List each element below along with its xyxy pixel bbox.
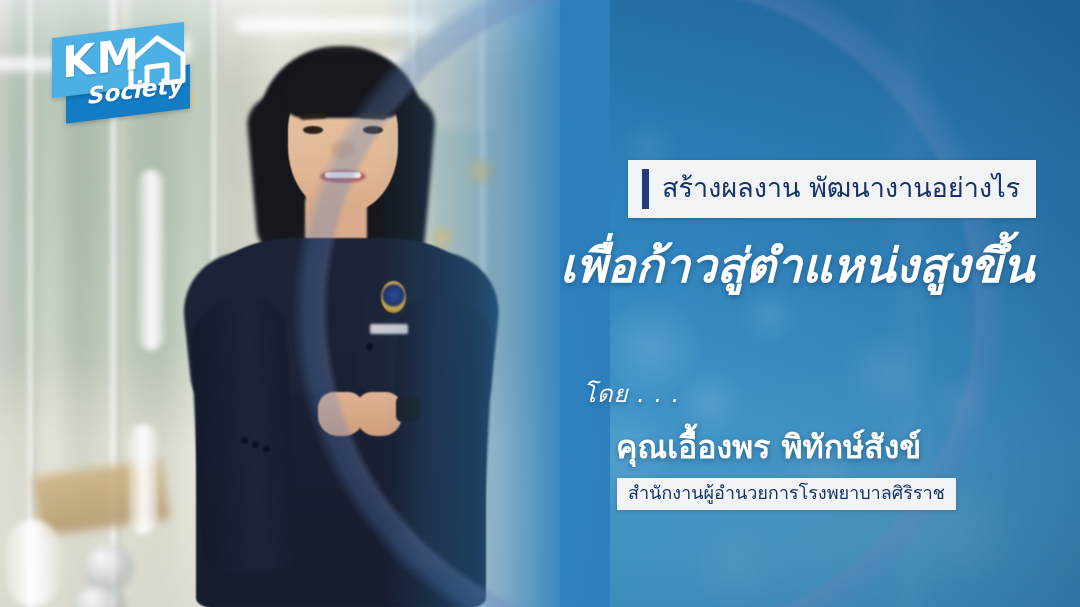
title-text: สร้างผลงาน พัฒนางานอย่างไร [662, 173, 1020, 205]
arm-left [189, 298, 299, 573]
title-banner: สร้างผลงาน พัฒนางานอย่างไร [628, 160, 1036, 218]
hair-fringe [282, 60, 404, 118]
wristwatch [396, 396, 420, 422]
blazer-button [366, 343, 373, 350]
eye-left [303, 126, 323, 134]
nose [331, 140, 355, 158]
cuff-button [252, 441, 259, 448]
km-society-logo[interactable]: KM Society [40, 24, 200, 128]
affiliation-text: สำนักงานผู้อำนวยการโรงพยาบาลศิริราช [628, 484, 945, 504]
cuff-button [241, 437, 248, 444]
name-tag [370, 324, 408, 334]
eye-right [363, 126, 383, 134]
teeth [325, 172, 361, 178]
cuff-button [263, 445, 270, 452]
title-accent-bar [642, 169, 649, 209]
uniform-emblem [381, 281, 406, 313]
arm-right [385, 298, 495, 573]
video-title-slide: KM Society สร้างผลงาน พัฒนางานอย่างไร เพ… [0, 0, 1080, 607]
headline-text: เพื่อก้าวสู่ตำแหน่งสูงขึ้น [560, 238, 1036, 295]
affiliation-banner: สำนักงานผู้อำนวยการโรงพยาบาลศิริราช [617, 478, 956, 510]
speaker-name: คุณเอื้องพร พิทักษ์สังข์ [616, 422, 921, 473]
byline-label: โดย . . . [583, 374, 680, 413]
